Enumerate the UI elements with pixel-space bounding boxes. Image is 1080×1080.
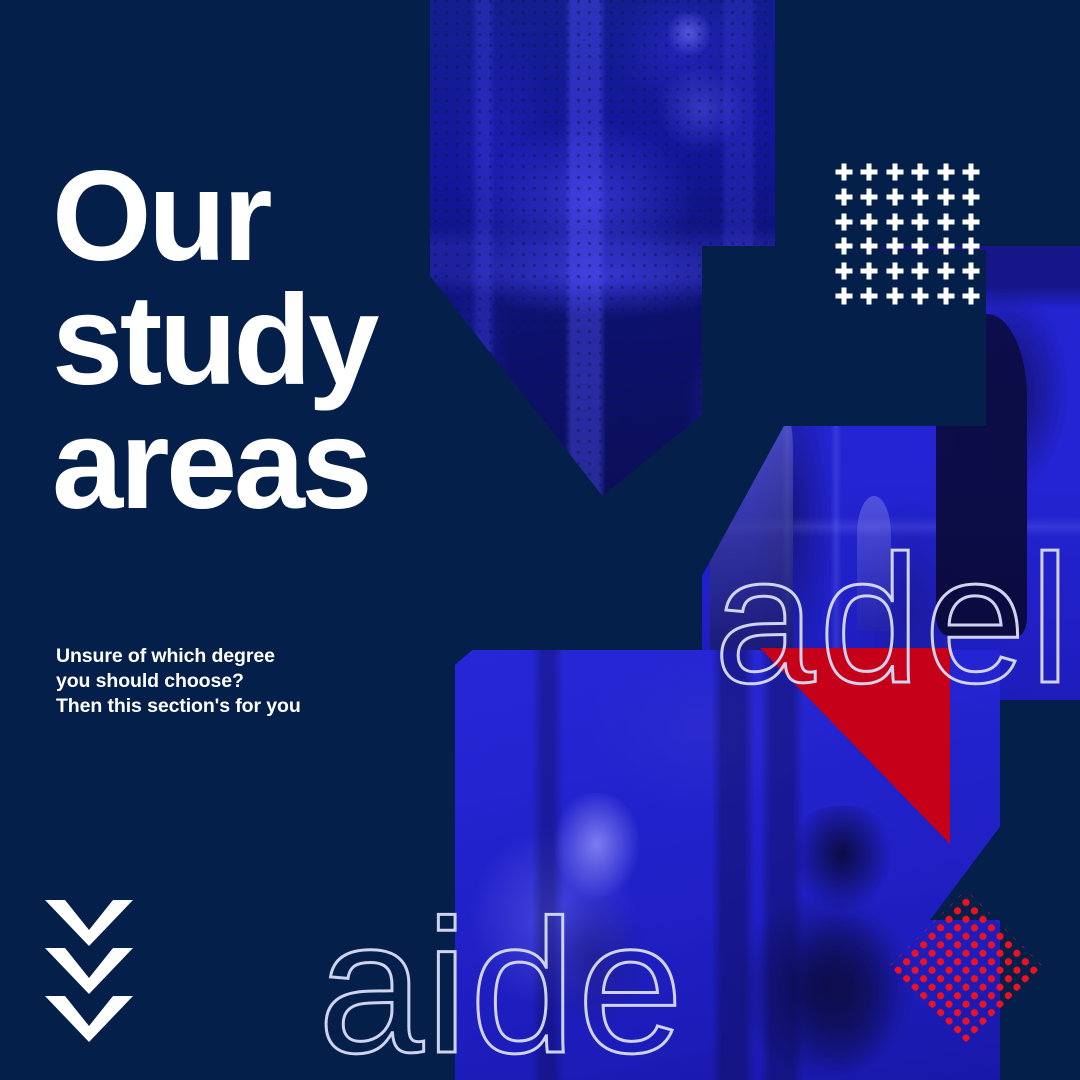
plus-icon xyxy=(831,234,857,259)
chevron-down-icon xyxy=(45,996,133,1040)
plus-icon xyxy=(933,259,959,284)
plus-icon xyxy=(882,209,908,234)
plus-icon xyxy=(959,259,985,284)
plus-grid xyxy=(831,160,984,308)
chevron-down-icon xyxy=(45,948,133,992)
plus-icon xyxy=(857,160,883,185)
chevron-stack xyxy=(45,900,133,1044)
plus-icon xyxy=(882,185,908,210)
plus-icon xyxy=(857,234,883,259)
subtitle-line-1: Unsure of which degree xyxy=(56,644,456,669)
plus-icon xyxy=(959,160,985,185)
plus-icon xyxy=(959,234,985,259)
plus-icon xyxy=(933,234,959,259)
plus-icon xyxy=(908,283,934,308)
plus-icon xyxy=(857,209,883,234)
plus-icon xyxy=(857,283,883,308)
navy-strip-right xyxy=(1000,700,1080,1080)
plus-icon xyxy=(882,234,908,259)
decorative-word-adel: adel xyxy=(714,528,1074,710)
decorative-word-aide: aide xyxy=(318,892,685,1080)
plus-icon xyxy=(959,185,985,210)
plus-icon xyxy=(831,160,857,185)
plus-icon xyxy=(908,185,934,210)
plus-icon xyxy=(908,259,934,284)
plus-icon xyxy=(857,259,883,284)
subtitle-text: Unsure of which degree you should choose… xyxy=(56,644,456,718)
plus-icon xyxy=(882,259,908,284)
plus-icon xyxy=(831,209,857,234)
plus-icon xyxy=(933,160,959,185)
plus-icon xyxy=(933,283,959,308)
photo-desk-person-right xyxy=(771,806,913,1074)
page-title: Our study areas xyxy=(52,155,472,527)
plus-icon xyxy=(908,234,934,259)
plus-icon xyxy=(933,209,959,234)
plus-icon xyxy=(959,209,985,234)
plus-icon xyxy=(908,160,934,185)
chevron-down-icon xyxy=(45,900,133,944)
plus-icon xyxy=(959,283,985,308)
plus-icon xyxy=(882,160,908,185)
plus-icon xyxy=(831,259,857,284)
subtitle-line-3: Then this section's for you xyxy=(56,694,456,719)
plus-icon xyxy=(933,185,959,210)
subtitle-line-2: you should choose? xyxy=(56,669,456,694)
plus-icon xyxy=(857,185,883,210)
plus-icon xyxy=(908,209,934,234)
plus-icon xyxy=(831,185,857,210)
poster-canvas: adel aide Our study areas Unsure of whic… xyxy=(0,0,1080,1080)
plus-icon xyxy=(831,283,857,308)
plus-icon xyxy=(882,283,908,308)
